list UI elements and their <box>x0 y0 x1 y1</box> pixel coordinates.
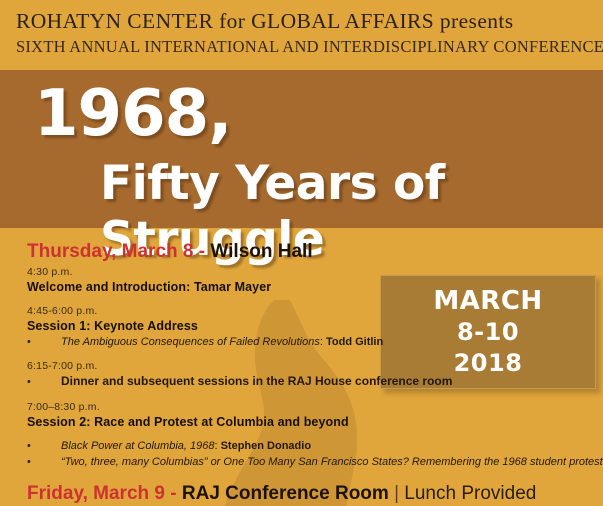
day2-pipe: | <box>389 483 405 504</box>
day1-block-0-session: Welcome and Introduction: Tamar Mayer <box>27 279 595 295</box>
day1-block-1-time: 4:45-6:00 p.m. <box>27 304 595 318</box>
day1-location: Wilson Hall <box>210 241 312 262</box>
day2-extra: Lunch Provided <box>404 483 536 504</box>
talk-title: Black Power at Columbia, 1968 <box>61 440 214 452</box>
day1-block-3: 7:00–8:30 p.m. Session 2: Race and Prote… <box>27 400 595 470</box>
bullet-content: The Ambiguous Consequences of Failed Rev… <box>61 335 383 350</box>
talk-speaker: Stephen Donadio <box>221 440 311 452</box>
schedule: Thursday, March 8 - Wilson Hall 4:30 p.m… <box>27 240 595 506</box>
title-year: 1968, <box>34 78 594 150</box>
bullet-dot-icon: • <box>27 455 61 470</box>
bullet-content: Dinner and subsequent sessions in the RA… <box>61 374 452 389</box>
day2-separator: - <box>165 483 182 504</box>
day1-block-0-time: 4:30 p.m. <box>27 265 595 279</box>
day1-block-1-bullet-0: • The Ambiguous Consequences of Failed R… <box>27 335 595 350</box>
poster-header: ROHATYN CENTER for GLOBAL AFFAIRS presen… <box>16 8 596 58</box>
day1-heading: Thursday, March 8 - Wilson Hall <box>27 240 595 264</box>
bullet-dot-icon: • <box>27 439 61 454</box>
day1-block-0: 4:30 p.m. Welcome and Introduction: Tama… <box>27 265 595 295</box>
presenter-line: ROHATYN CENTER for GLOBAL AFFAIRS presen… <box>16 8 596 34</box>
day2-location: RAJ Conference Room <box>182 483 389 504</box>
day1-block-1: 4:45-6:00 p.m. Session 1: Keynote Addres… <box>27 304 595 350</box>
talk-speaker: Todd Gitlin <box>326 336 383 348</box>
bullet-dot-icon: • <box>27 335 61 350</box>
conference-poster: ROHATYN CENTER for GLOBAL AFFAIRS presen… <box>0 0 603 506</box>
bullet-content: Black Power at Columbia, 1968: Stephen D… <box>61 439 311 454</box>
day1-date: Thursday, March 8 <box>27 241 193 262</box>
day1-block-3-bullet-0: • Black Power at Columbia, 1968: Stephen… <box>27 439 595 454</box>
talk-title: “Two, three, many Columbias” or One Too … <box>61 456 603 468</box>
bullet-content: “Two, three, many Columbias” or One Too … <box>61 455 603 470</box>
day1-block-3-bullet-1: • “Two, three, many Columbias” or One To… <box>27 455 595 470</box>
day1-block-2: 6:15-7:00 p.m. • Dinner and subsequent s… <box>27 359 595 390</box>
talk-title: The Ambiguous Consequences of Failed Rev… <box>61 336 320 348</box>
day1-separator: - <box>193 241 210 262</box>
day2-date: Friday, March 9 <box>27 483 165 504</box>
day1-block-3-session: Session 2: Race and Protest at Columbia … <box>27 414 595 430</box>
day1-block-1-session: Session 1: Keynote Address <box>27 318 595 334</box>
bullet-dot-icon: • <box>27 375 61 390</box>
day2-heading: Friday, March 9 - RAJ Conference Room | … <box>27 482 595 506</box>
day1-block-2-bullet-0: • Dinner and subsequent sessions in the … <box>27 374 595 390</box>
day1-block-2-time: 6:15-7:00 p.m. <box>27 359 595 373</box>
day1-block-3-time: 7:00–8:30 p.m. <box>27 400 595 414</box>
conference-subtitle-line: SIXTH ANNUAL INTERNATIONAL AND INTERDISC… <box>16 36 596 58</box>
